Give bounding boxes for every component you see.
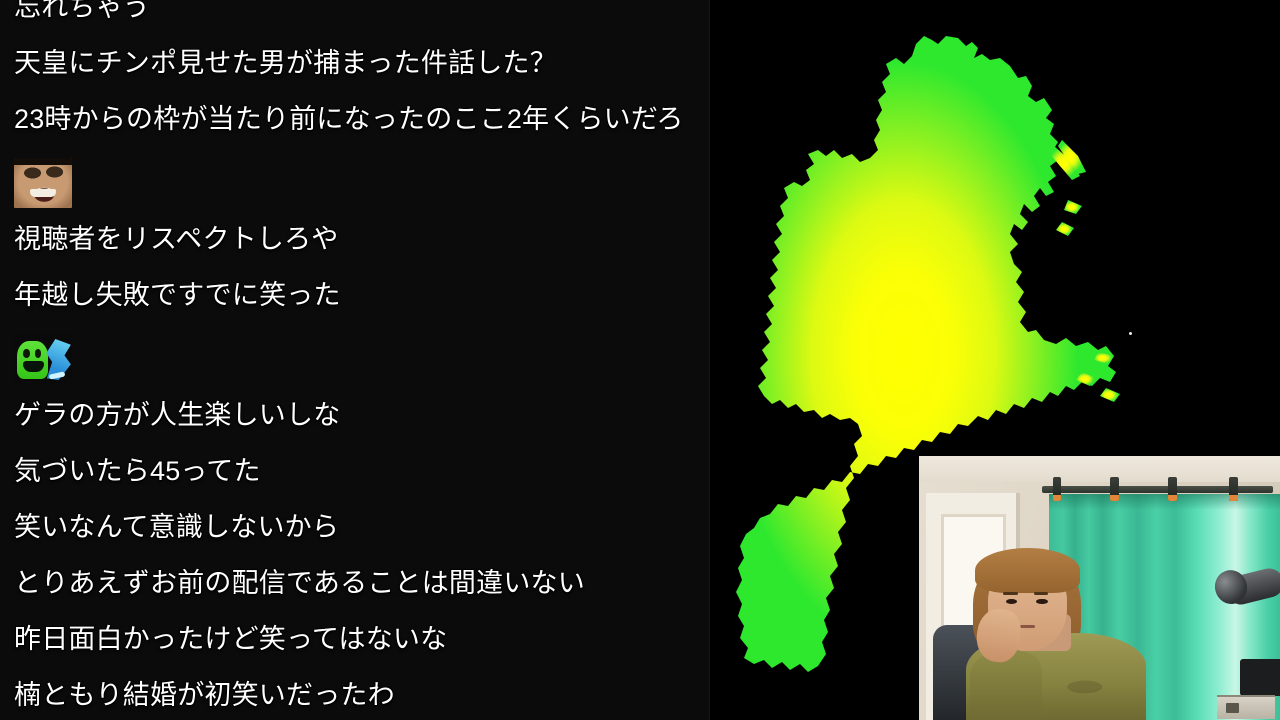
chat-message-row: とりあえずお前の配信であることは間違いない <box>0 566 710 600</box>
green-creature-emote <box>14 334 72 384</box>
webcam-person-eyebrow-left <box>1003 592 1017 594</box>
webcam-curtain-clip <box>1229 477 1238 501</box>
chat-message-text: 天皇にチンポ見せた男が捕まった件話した？ <box>14 46 557 80</box>
chat-message-row: 年越し失敗ですでに笑った <box>0 278 710 312</box>
chat-emote-row <box>0 334 710 384</box>
webcam-person-hair-front <box>975 548 1080 593</box>
chat-message-row: ゲラの方が人生楽しいしな <box>0 398 710 432</box>
chat-message-row: 昨日面白かったけど笑ってはないな <box>0 622 710 656</box>
chat-message-text: 23時からの枠が当たり前になったのここ2年くらいだろ <box>14 102 684 136</box>
chat-message-text: ゲラの方が人生楽しいしな <box>14 398 340 432</box>
chat-message-text: 楠ともり結婚が初笑いだったわ <box>14 678 395 712</box>
emote-creature-body <box>17 341 47 379</box>
chat-message-list[interactable]: 忘れちゃう天皇にチンポ見せた男が捕まった件話した？23時からの枠が当たり前になっ… <box>0 0 710 712</box>
chat-message-text: 笑いなんて意識しないから <box>14 510 339 544</box>
stream-overlay-stage: 忘れちゃう天皇にチンポ見せた男が捕まった件話した？23時からの枠が当たり前になっ… <box>0 0 1280 720</box>
streamer-webcam[interactable] <box>919 456 1280 720</box>
chat-message-row: 視聴者をリスペクトしろや <box>0 222 710 256</box>
webcam-person-arm <box>970 651 1042 720</box>
webcam-person-eye-left <box>1006 599 1017 604</box>
chat-message-text: とりあえずお前の配信であることは間違いない <box>14 566 585 600</box>
chat-message-row: 天皇にチンポ見せた男が捕まった件話した？ <box>0 46 710 80</box>
webcam-curtain-shadow <box>1049 494 1280 510</box>
chat-message-row: 23時からの枠が当たり前になったのここ2年くらいだろ <box>0 102 710 136</box>
chat-message-text: 気づいたら45ってた <box>14 454 261 488</box>
chat-message-text: 年越し失敗ですでに笑った <box>14 278 341 312</box>
chat-message-row: 楠ともり結婚が初笑いだったわ <box>0 678 710 712</box>
webcam-desk-device <box>1217 695 1275 719</box>
webcam-curtain-clip <box>1053 477 1062 501</box>
chat-message-row: 気づいたら45ってた <box>0 454 710 488</box>
lul-laughing-face-emote <box>14 158 72 208</box>
chat-message-text: 昨日面白かったけど笑ってはないな <box>14 622 447 656</box>
webcam-curtain-clip <box>1110 477 1119 501</box>
emote-creature-eye <box>23 349 29 358</box>
webcam-curtain-clip <box>1168 477 1177 501</box>
emote-creature-mouth <box>23 361 44 372</box>
chat-message-text: 視聴者をリスペクトしろや <box>14 222 339 256</box>
chat-message-row: 忘れちゃう <box>0 0 710 24</box>
map-speck-marker <box>1129 332 1132 335</box>
webcam-curtain-rod <box>1042 486 1273 492</box>
webcam-dark-object <box>1240 659 1280 696</box>
webcam-ceiling <box>919 456 1280 482</box>
chat-panel[interactable]: 忘れちゃう天皇にチンポ見せた男が捕まった件話した？23時からの枠が当たり前になっ… <box>0 0 710 720</box>
emote-creature-eye <box>35 349 41 358</box>
chat-message-row: 笑いなんて意識しないから <box>0 510 710 544</box>
webcam-person-eye-right <box>1036 599 1047 604</box>
webcam-person-eyebrow-right <box>1034 592 1048 594</box>
chat-emote-row <box>0 158 710 208</box>
chat-message-text: 忘れちゃう <box>14 0 150 24</box>
